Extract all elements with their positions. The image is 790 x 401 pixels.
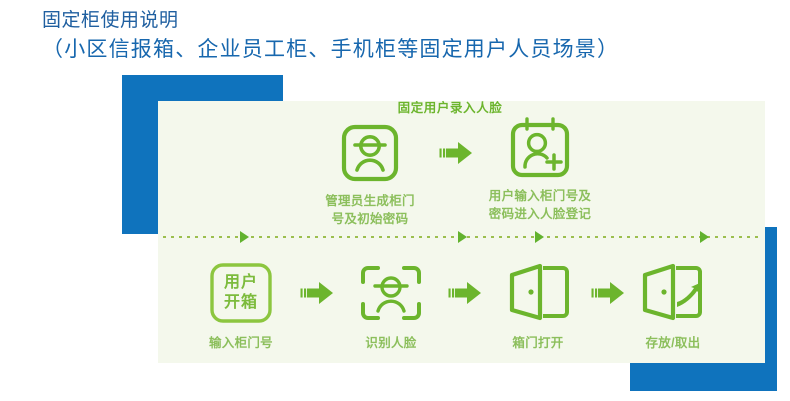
flow-step-input-door-number: 用户 开箱 输入柜门号	[185, 258, 297, 352]
flow-step-caption: 输入柜门号	[185, 334, 297, 352]
right-arrow-icon	[447, 280, 485, 306]
right-arrow-icon	[299, 280, 337, 306]
top-section-heading: 固定用户录入人脸	[330, 97, 570, 116]
flow-step-caption: 箱门打开	[483, 334, 593, 352]
face-recognition-frame-icon	[335, 258, 447, 328]
flow-step-caption: 存放/取出	[618, 334, 728, 352]
open-box-text-line2: 开箱	[224, 293, 258, 313]
flow-step-deposit-withdraw: 存放/取出	[618, 258, 728, 352]
page-subtitle: （小区信报箱、企业员工柜、手机柜等固定用户人员场景）	[42, 36, 619, 64]
admin-person-rounded-square-icon	[300, 118, 440, 188]
triangle-right-icon	[700, 231, 709, 243]
triangle-right-icon	[240, 231, 249, 243]
flow-step-caption: 识别人脸	[335, 334, 447, 352]
decor-blue-bracket-top-left-horizontal	[122, 75, 283, 102]
flow-step-user-enroll: 用户输入柜门号及 密码进入人脸登记	[460, 115, 620, 223]
slide-canvas: 固定柜使用说明 （小区信报箱、企业员工柜、手机柜等固定用户人员场景） 固定用户录…	[0, 0, 790, 401]
open-door-icon	[483, 258, 593, 328]
triangle-right-icon	[458, 231, 467, 243]
triangle-right-icon	[535, 231, 544, 243]
deposit-withdraw-door-arrow-icon	[618, 258, 728, 328]
flow-step-caption: 管理员生成柜门 号及初始密码	[300, 192, 440, 228]
flow-step-face-recognition: 识别人脸	[335, 258, 447, 352]
add-user-card-icon	[460, 115, 620, 183]
open-box-text-line1: 用户	[224, 273, 258, 293]
flow-step-admin-generate: 管理员生成柜门 号及初始密码	[300, 118, 440, 228]
user-open-box-text-icon: 用户 开箱	[185, 258, 297, 328]
decor-blue-bracket-bottom-right-horizontal	[630, 362, 777, 391]
flow-step-door-open: 箱门打开	[483, 258, 593, 352]
page-title: 固定柜使用说明	[42, 8, 179, 34]
flow-step-caption: 用户输入柜门号及 密码进入人脸登记	[460, 187, 620, 223]
